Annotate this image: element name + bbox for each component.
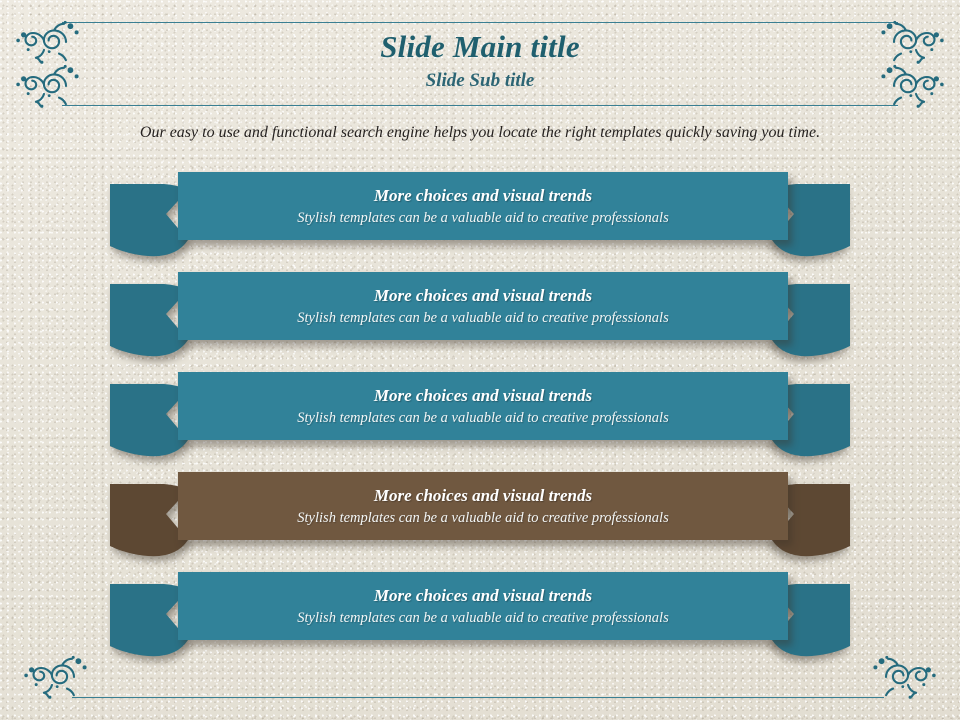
page-sub-title: Slide Sub title [0,68,960,94]
ribbon-subtext: Stylish templates can be a valuable aid … [297,408,668,428]
ribbon-item[interactable]: More choices and visual trendsStylish te… [0,570,960,670]
ribbon-item[interactable]: More choices and visual trendsStylish te… [0,270,960,370]
ribbon-graphic: More choices and visual trendsStylish te… [0,470,960,570]
ribbon-subtext: Stylish templates can be a valuable aid … [297,508,668,528]
ribbon-bar[interactable]: More choices and visual trendsStylish te… [178,272,788,340]
ribbon-graphic: More choices and visual trendsStylish te… [0,170,960,270]
ribbon-heading: More choices and visual trends [374,585,592,607]
ribbon-heading: More choices and visual trends [374,485,592,507]
header-rule-bottom [62,105,898,106]
ribbon-bar[interactable]: More choices and visual trendsStylish te… [178,572,788,640]
ribbon-bar[interactable]: More choices and visual trendsStylish te… [178,172,788,240]
ribbon-list: More choices and visual trendsStylish te… [0,170,960,670]
ribbon-graphic: More choices and visual trendsStylish te… [0,570,960,670]
ribbon-heading: More choices and visual trends [374,185,592,207]
ribbon-item[interactable]: More choices and visual trendsStylish te… [0,370,960,470]
ribbon-graphic: More choices and visual trendsStylish te… [0,270,960,370]
ribbon-subtext: Stylish templates can be a valuable aid … [297,308,668,328]
ribbon-heading: More choices and visual trends [374,385,592,407]
ribbon-tail-left [110,284,188,358]
ribbon-item[interactable]: More choices and visual trendsStylish te… [0,470,960,570]
ribbon-tail-left [110,184,188,258]
ribbon-item[interactable]: More choices and visual trendsStylish te… [0,170,960,270]
intro-text: Our easy to use and functional search en… [60,122,900,144]
ribbon-subtext: Stylish templates can be a valuable aid … [297,208,668,228]
ribbon-bar[interactable]: More choices and visual trendsStylish te… [178,372,788,440]
slide-canvas: Slide Main title Slide Sub title Our eas… [0,0,960,720]
ribbon-heading: More choices and visual trends [374,285,592,307]
title-block: Slide Main title Slide Sub title [0,28,960,94]
ribbon-bar[interactable]: More choices and visual trendsStylish te… [178,472,788,540]
ribbon-tail-left [110,584,188,658]
ribbon-subtext: Stylish templates can be a valuable aid … [297,608,668,628]
ribbon-tail-left [110,484,188,558]
ribbon-tail-left [110,384,188,458]
page-title: Slide Main title [0,28,960,66]
ribbon-graphic: More choices and visual trendsStylish te… [0,370,960,470]
footer-rule [72,697,884,698]
header-rule-top [62,22,898,23]
